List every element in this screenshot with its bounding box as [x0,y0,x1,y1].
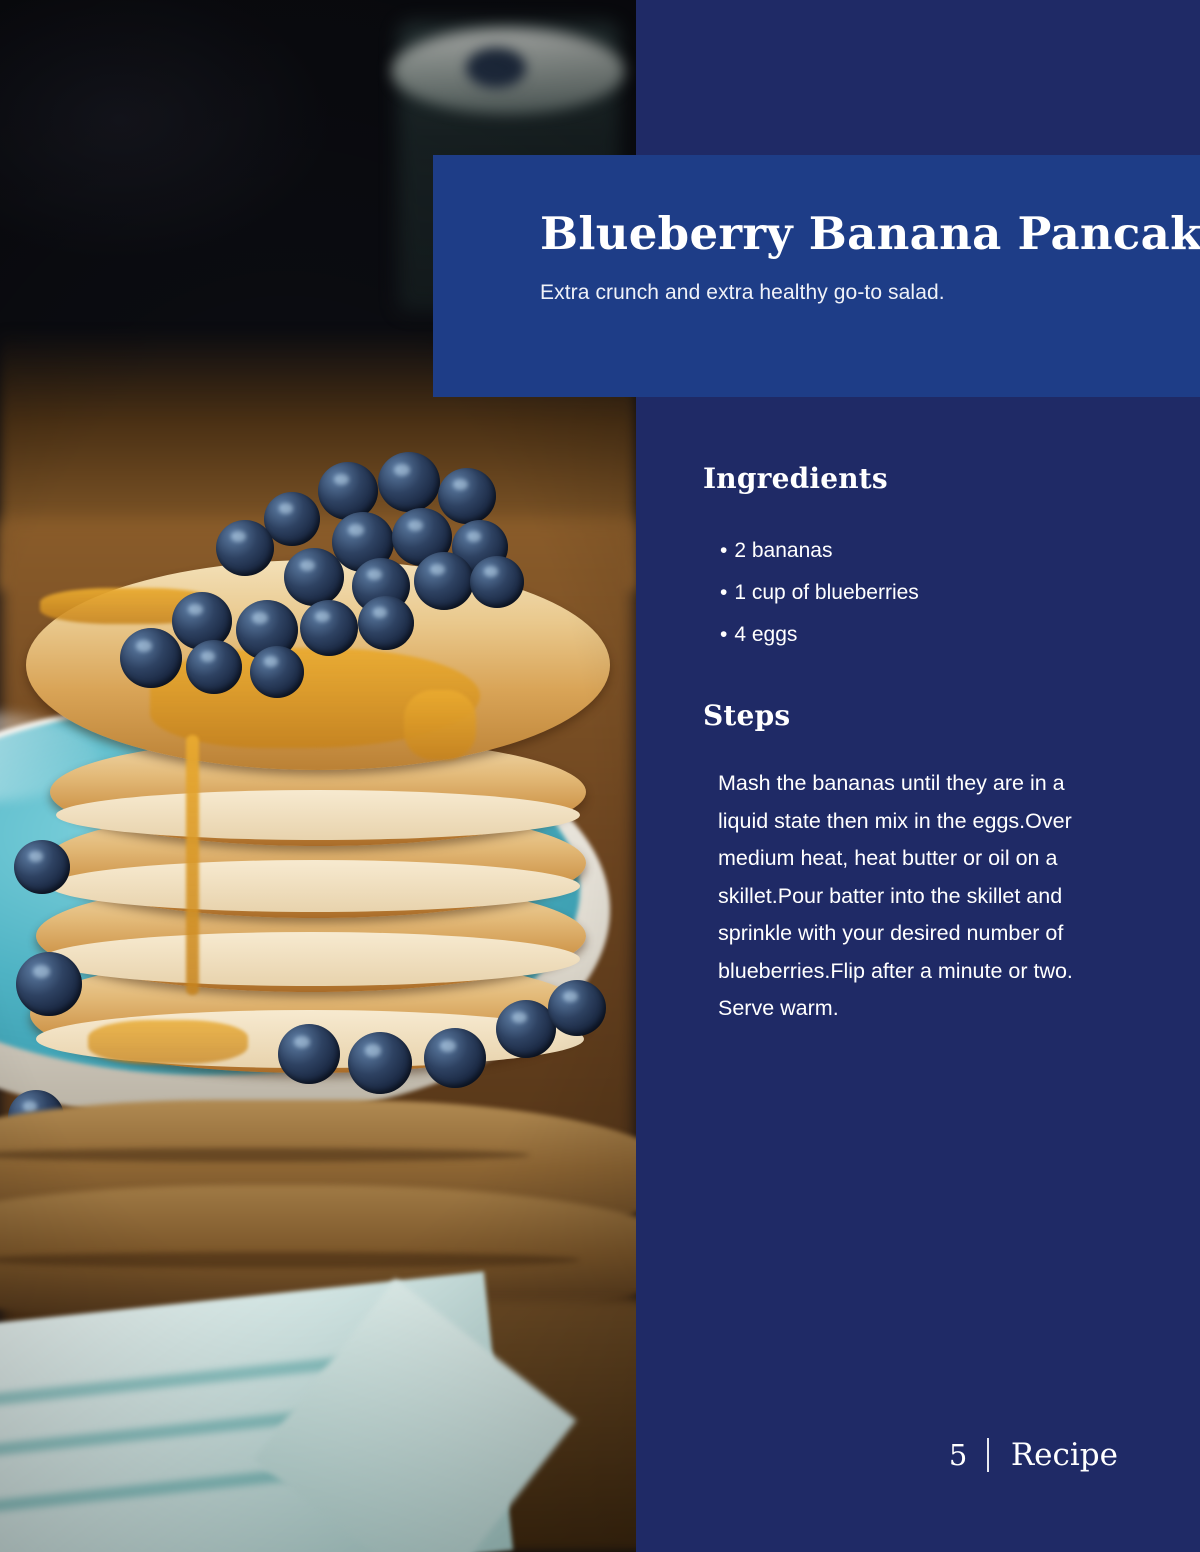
photo-blueberry [120,628,182,688]
bullet-icon: • [720,623,727,646]
ingredients-heading: Ingredients [703,462,888,495]
title-banner: Blueberry Banana Pancakes Extra crunch a… [433,155,1200,397]
photo-syrup-drip [404,690,476,760]
photo-syrup-drip [186,735,199,995]
page-number: 5 [949,1438,967,1472]
ingredient-label: 4 eggs [734,623,797,646]
footer-divider [987,1438,989,1472]
ingredients-list: •2 bananas •1 cup of blueberries •4 eggs [720,530,1150,656]
photo-pancake-edge [42,932,580,986]
ingredient-label: 1 cup of blueberries [734,581,918,604]
photo-blueberry [16,952,82,1016]
footer-label: Recipe [1011,1437,1118,1473]
photo-blueberry [300,600,358,656]
photo-blueberry [378,452,440,512]
steps-text: Mash the bananas until they are in a liq… [718,765,1088,1028]
steps-heading: Steps [703,699,790,732]
photo-blueberry [358,596,414,650]
photo-blueberry [424,1028,486,1088]
bullet-icon: • [720,539,727,562]
photo-blueberry [470,556,524,608]
photo-jar-berries [466,48,526,88]
photo-syrup-pool [88,1020,248,1064]
photo-blueberry [414,552,474,610]
photo-pancake-edge [56,790,580,840]
photo-blueberry [216,520,274,576]
recipe-page: Blueberry Banana Pancakes Extra crunch a… [0,0,1200,1552]
list-item: •1 cup of blueberries [720,572,1150,614]
photo-blueberry [496,1000,556,1058]
page-footer: 5 Recipe [700,1437,1118,1473]
photo-blueberry [318,462,378,520]
photo-blueberry [548,980,606,1036]
recipe-subtitle: Extra crunch and extra healthy go-to sal… [540,281,945,305]
photo-blueberry [186,640,242,694]
photo-pancake-edge [50,860,580,912]
photo-wood-grain [0,1252,580,1268]
bullet-icon: • [720,581,727,604]
list-item: •2 bananas [720,530,1150,572]
photo-blueberry [438,468,496,524]
recipe-title: Blueberry Banana Pancakes [540,207,1180,260]
photo-blueberry [284,548,344,606]
photo-blueberry [278,1024,340,1084]
photo-blueberry [348,1032,412,1094]
list-item: •4 eggs [720,614,1150,656]
ingredient-label: 2 bananas [734,539,832,562]
photo-blueberry [14,840,70,894]
photo-blueberry [250,646,304,698]
